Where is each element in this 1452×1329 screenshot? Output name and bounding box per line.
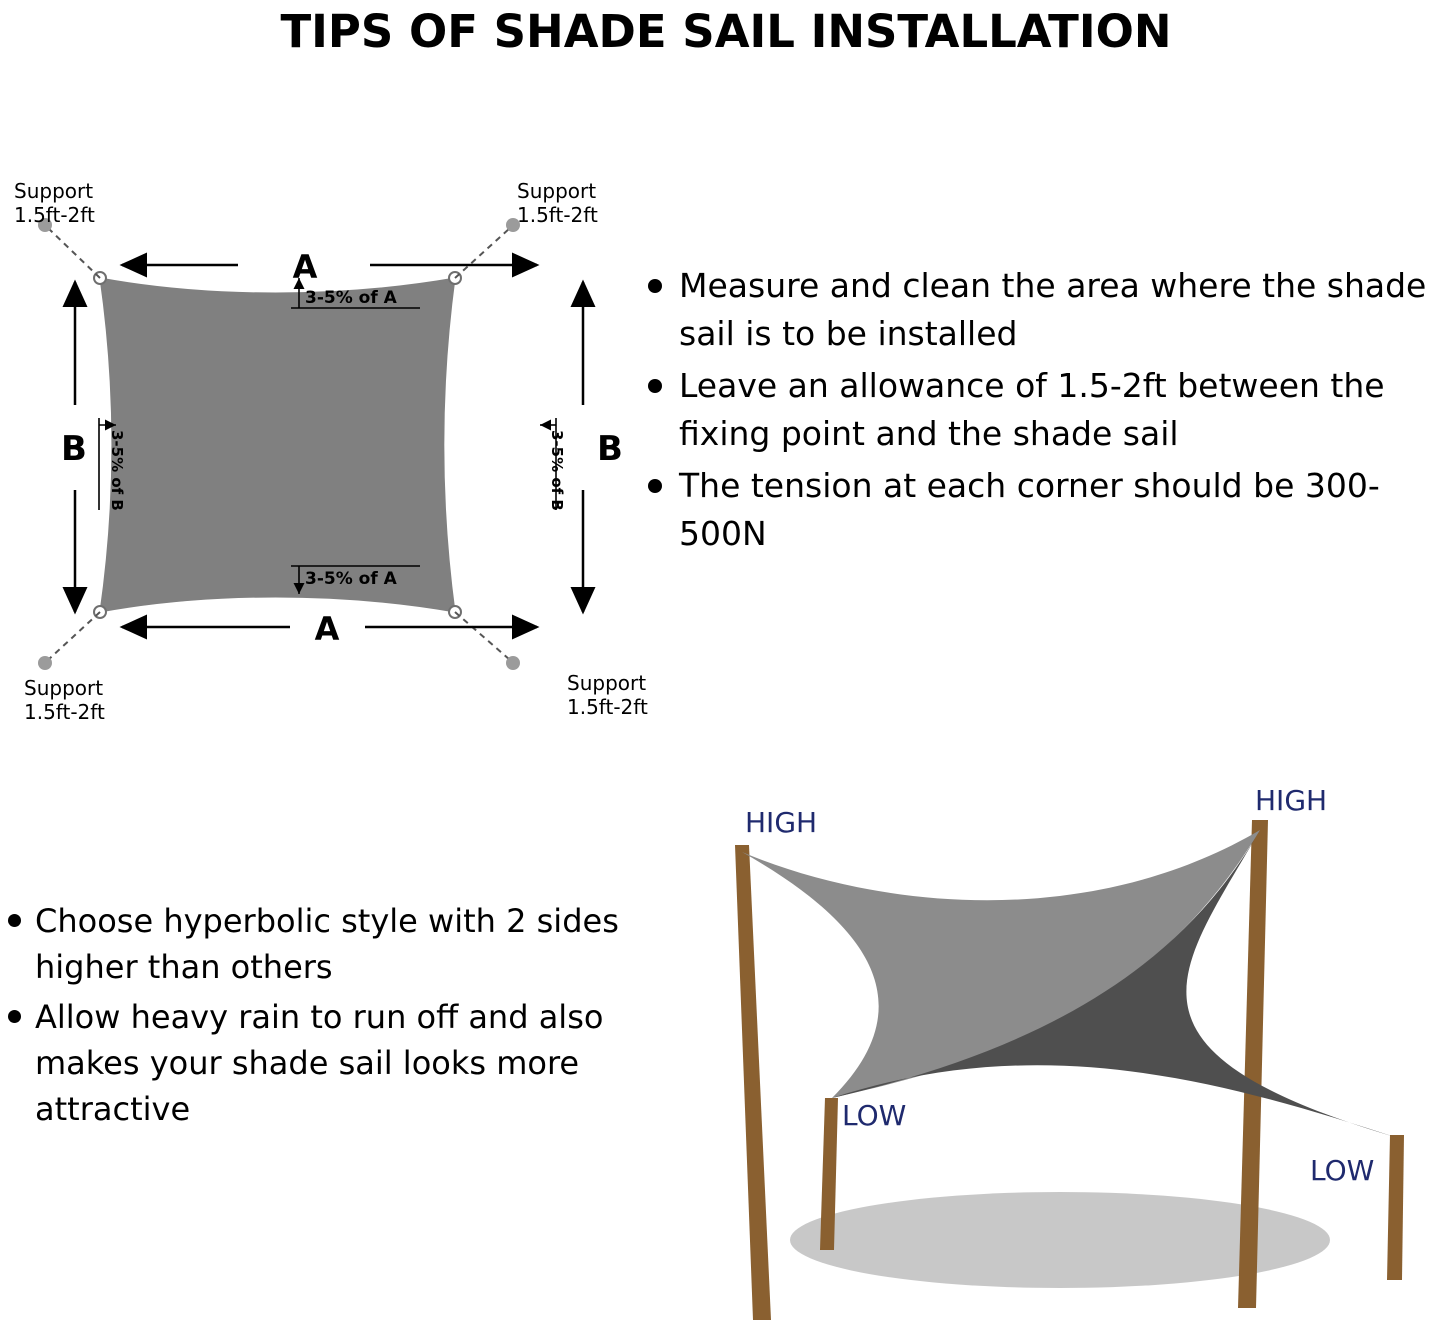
- support-label-bottom-right-line2: 1.5ft-2ft: [567, 695, 648, 719]
- list-item: Leave an allowance of 1.5-2ft between th…: [648, 362, 1452, 458]
- list-item-label: Measure and clean the area where the sha…: [679, 262, 1452, 358]
- label-high-right: HIGH: [1255, 784, 1327, 817]
- dimension-label-B-right: B: [597, 429, 623, 469]
- bullet-icon: [648, 479, 662, 493]
- support-label-top-right-line1: Support: [517, 179, 596, 203]
- support-point-bottom-left: [38, 656, 52, 670]
- installation-tips-list: Measure and clean the area where the sha…: [648, 262, 1452, 562]
- support-label-bottom-left-line2: 1.5ft-2ft: [24, 700, 105, 724]
- dimension-label-A-top: A: [293, 248, 318, 286]
- list-item-label: Leave an allowance of 1.5-2ft between th…: [679, 362, 1452, 458]
- dimension-label-A-bottom: A: [315, 610, 340, 648]
- hyperbolic-sail-diagram: HIGH HIGH LOW LOW: [620, 780, 1452, 1325]
- support-label-top-right-line2: 1.5ft-2ft: [517, 203, 598, 227]
- rectangular-sail-svg: Support 1.5ft-2ft Support 1.5ft-2ft Supp…: [0, 160, 660, 740]
- support-label-top-left-line1: Support: [14, 179, 93, 203]
- curve-depth-label-bottom: 3-5% of A: [305, 569, 398, 589]
- curve-depth-label-top: 3-5% of A: [305, 288, 398, 308]
- list-item: Measure and clean the area where the sha…: [648, 262, 1452, 358]
- bullet-icon: [8, 1010, 21, 1023]
- support-line-bottom-left: [48, 612, 100, 660]
- pole-right-low: [1387, 1135, 1404, 1280]
- support-label-bottom-left-line1: Support: [24, 676, 103, 700]
- hyperbolic-tips-list: Choose hyperbolic style with 2 sides hig…: [0, 898, 620, 1136]
- support-point-bottom-right: [506, 656, 520, 670]
- dimension-label-B-left: B: [61, 429, 87, 469]
- curve-depth-label-right: 3-5% of B: [548, 430, 566, 511]
- label-high-left: HIGH: [745, 806, 817, 839]
- label-low-right: LOW: [1310, 1154, 1374, 1187]
- support-label-top-left-line2: 1.5ft-2ft: [14, 203, 95, 227]
- list-item: Choose hyperbolic style with 2 sides hig…: [0, 898, 620, 990]
- pole-left-high: [735, 845, 771, 1320]
- label-low-left: LOW: [842, 1099, 906, 1132]
- rectangular-sail-diagram: Support 1.5ft-2ft Support 1.5ft-2ft Supp…: [0, 160, 660, 740]
- hyperbolic-sail-svg: HIGH HIGH LOW LOW: [620, 780, 1452, 1325]
- support-line-bottom-right: [455, 612, 510, 660]
- support-line-top-right: [455, 228, 510, 278]
- support-label-bottom-right-line1: Support: [567, 671, 646, 695]
- list-item-label: The tension at each corner should be 300…: [679, 462, 1452, 558]
- list-item: Allow heavy rain to run off and also mak…: [0, 994, 620, 1132]
- support-line-top-left: [48, 228, 100, 278]
- sail-shape: [100, 278, 455, 612]
- list-item-label: Allow heavy rain to run off and also mak…: [35, 994, 620, 1132]
- bullet-icon: [648, 279, 662, 293]
- bullet-icon: [8, 914, 21, 927]
- page-title: TIPS OF SHADE SAIL INSTALLATION: [0, 4, 1452, 59]
- list-item-label: Choose hyperbolic style with 2 sides hig…: [35, 898, 620, 990]
- bullet-icon: [648, 379, 662, 393]
- list-item: The tension at each corner should be 300…: [648, 462, 1452, 558]
- curve-depth-label-left: 3-5% of B: [108, 430, 126, 511]
